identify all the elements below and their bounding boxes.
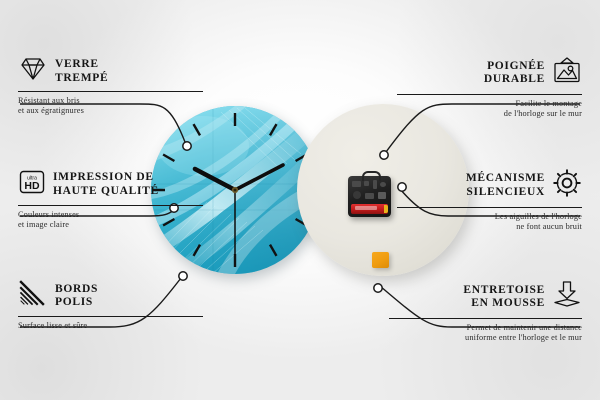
feature-title-line1: POIGNÉE bbox=[484, 60, 545, 74]
feature-titles: ENTRETOISE EN MOUSSE bbox=[463, 284, 545, 311]
feature-title-line2: DURABLE bbox=[484, 73, 545, 87]
mechanism-detail bbox=[352, 181, 361, 187]
picture-hanger-icon bbox=[552, 56, 582, 90]
feature-titles: MÉCANISME SILENCIEUX bbox=[466, 172, 545, 199]
feature-title-line2: HAUTE QUALITÉ bbox=[53, 185, 159, 199]
feature-titles: BORDS POLIS bbox=[55, 283, 98, 310]
mechanism-detail bbox=[365, 193, 374, 199]
feature-desc-line1: Surface lisse et sûre bbox=[18, 321, 203, 331]
feature-divider bbox=[18, 316, 203, 317]
feature-title-line2: POLIS bbox=[55, 296, 98, 310]
battery-label bbox=[355, 206, 377, 210]
feature-header: ultra HD IMPRESSION DE HAUTE QUALITÉ bbox=[18, 168, 203, 201]
feature-title-line2: SILENCIEUX bbox=[466, 186, 545, 200]
battery bbox=[351, 204, 388, 214]
feature-mecanisme-silencieux: MÉCANISME SILENCIEUX bbox=[397, 168, 582, 232]
infographic-canvas: VERRE TREMPÉ Résistant aux bris et aux é… bbox=[0, 0, 600, 400]
feature-desc-line1: Couleurs intenses bbox=[18, 210, 203, 220]
feature-title-line2: EN MOUSSE bbox=[463, 297, 545, 311]
clock-mechanism bbox=[348, 176, 391, 217]
mechanism-detail bbox=[353, 191, 361, 199]
feature-titles: VERRE TREMPÉ bbox=[55, 58, 108, 85]
foam-spacer-icon bbox=[552, 280, 582, 314]
feature-title-line1: IMPRESSION DE bbox=[53, 171, 159, 185]
feature-title-line2: TREMPÉ bbox=[55, 72, 108, 86]
feature-entretoise-mousse: ENTRETOISE EN MOUSSE Permet de maintenir… bbox=[389, 280, 582, 343]
feature-divider bbox=[18, 91, 203, 92]
feature-desc-line2: de l'horloge sur le mur bbox=[397, 109, 582, 119]
mechanism-detail bbox=[380, 182, 386, 187]
feature-desc-line1: Permet de maintenir une distance bbox=[389, 323, 582, 333]
ultra-hd-icon-main: HD bbox=[24, 180, 40, 192]
feature-impression-haute-qualite: ultra HD IMPRESSION DE HAUTE QUALITÉ Cou… bbox=[18, 168, 203, 230]
mechanism-detail bbox=[373, 180, 377, 189]
gear-icon bbox=[552, 168, 582, 203]
feature-titles: POIGNÉE DURABLE bbox=[484, 60, 545, 87]
feature-title-line1: ENTRETOISE bbox=[463, 284, 545, 298]
feature-header: POIGNÉE DURABLE bbox=[397, 56, 582, 90]
feature-header: ENTRETOISE EN MOUSSE bbox=[389, 280, 582, 314]
feature-poignee-durable: POIGNÉE DURABLE Facilite le montage de l… bbox=[397, 56, 582, 119]
feature-desc-line2: et aux égratignures bbox=[18, 106, 203, 116]
feature-desc-line1: Facilite le montage bbox=[397, 99, 582, 109]
feature-desc-line2: uniforme entre l'horloge et le mur bbox=[389, 333, 582, 343]
feature-verre-trempe: VERRE TREMPÉ Résistant aux bris et aux é… bbox=[18, 56, 203, 116]
feature-desc-line2: ne font aucun bruit bbox=[397, 222, 582, 232]
feature-header: MÉCANISME SILENCIEUX bbox=[397, 168, 582, 203]
feature-title-line1: BORDS bbox=[55, 283, 98, 297]
mechanism-detail bbox=[378, 192, 386, 199]
polished-edges-icon bbox=[18, 280, 48, 312]
feature-desc-line2: et image claire bbox=[18, 220, 203, 230]
feature-bords-polis: BORDS POLIS Surface lisse et sûre bbox=[18, 280, 203, 331]
mechanism-hanger bbox=[362, 171, 381, 181]
feature-title-line1: MÉCANISME bbox=[466, 172, 545, 186]
feature-titles: IMPRESSION DE HAUTE QUALITÉ bbox=[53, 171, 159, 198]
feature-desc-line1: Résistant aux bris bbox=[18, 96, 203, 106]
feature-divider bbox=[18, 205, 203, 206]
feature-desc-line1: Les aiguilles de l'horloge bbox=[397, 212, 582, 222]
feature-header: VERRE TREMPÉ bbox=[18, 56, 203, 87]
mechanism-detail bbox=[364, 181, 369, 186]
feature-header: BORDS POLIS bbox=[18, 280, 203, 312]
feature-divider bbox=[397, 207, 582, 208]
foam-spacer bbox=[372, 252, 389, 268]
ultra-hd-icon: ultra HD bbox=[18, 168, 46, 201]
feature-divider bbox=[389, 318, 582, 319]
feature-title-line1: VERRE bbox=[55, 58, 108, 72]
feature-divider bbox=[397, 94, 582, 95]
diamond-icon bbox=[18, 56, 48, 87]
battery-terminal bbox=[384, 205, 388, 213]
